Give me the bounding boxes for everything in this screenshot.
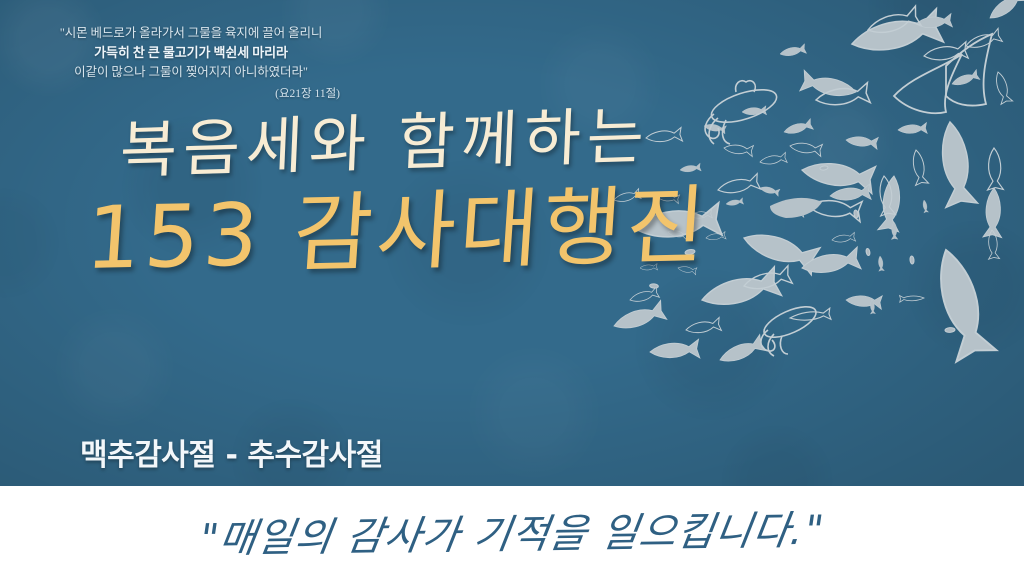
footer-tagline: "매일의 감사가 기적을 일으킵니다."	[196, 498, 829, 565]
scripture-line-1: "시몬 베드로가 올라가서 그물을 육지에 끌어 올리니	[36, 24, 346, 43]
poster-canvas: "시몬 베드로가 올라가서 그물을 육지에 끌어 올리니 가득히 찬 큰 물고기…	[0, 0, 1024, 576]
headline-block: 복음세와 함께하는 153 감사대행진	[0, 120, 760, 282]
scripture-reference: (요21장 11절)	[36, 86, 346, 103]
scripture-quote: "시몬 베드로가 올라가서 그물을 육지에 끌어 올리니 가득히 찬 큰 물고기…	[36, 24, 346, 103]
footer-bar: "매일의 감사가 기적을 일으킵니다."	[0, 486, 1024, 576]
sea-background: "시몬 베드로가 올라가서 그물을 육지에 끌어 올리니 가득히 찬 큰 물고기…	[0, 0, 1024, 486]
headline-line-2: 153 감사대행진	[83, 182, 763, 282]
scripture-line-3: 이같이 많으나 그물이 찢어지지 아니하였더라"	[36, 63, 346, 82]
scripture-line-2: 가득히 찬 큰 물고기가 백쉰세 마리라	[36, 43, 346, 63]
subtitle-text: 맥추감사절 - 추수감사절	[80, 430, 383, 474]
headline-line-1: 복음세와 함께하는	[119, 102, 761, 182]
